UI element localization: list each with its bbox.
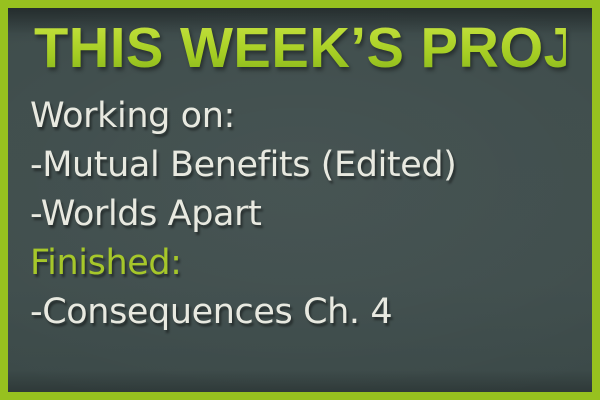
list-item: -Mutual Benefits (Edited)	[30, 141, 576, 190]
poster-inner-panel: THIS WEEK’S PROJECTS Working on: -Mutual…	[8, 8, 592, 392]
list-item: Finished:	[30, 239, 576, 288]
list-item: Working on:	[30, 92, 576, 141]
list-item: -Worlds Apart	[30, 190, 576, 239]
project-list: Working on: -Mutual Benefits (Edited) -W…	[30, 92, 576, 337]
page-title: THIS WEEK’S PROJECTS	[34, 16, 566, 80]
project-status-poster: THIS WEEK’S PROJECTS Working on: -Mutual…	[0, 0, 600, 400]
poster-content: THIS WEEK’S PROJECTS Working on: -Mutual…	[8, 8, 592, 392]
list-item: -Consequences Ch. 4	[30, 288, 576, 337]
